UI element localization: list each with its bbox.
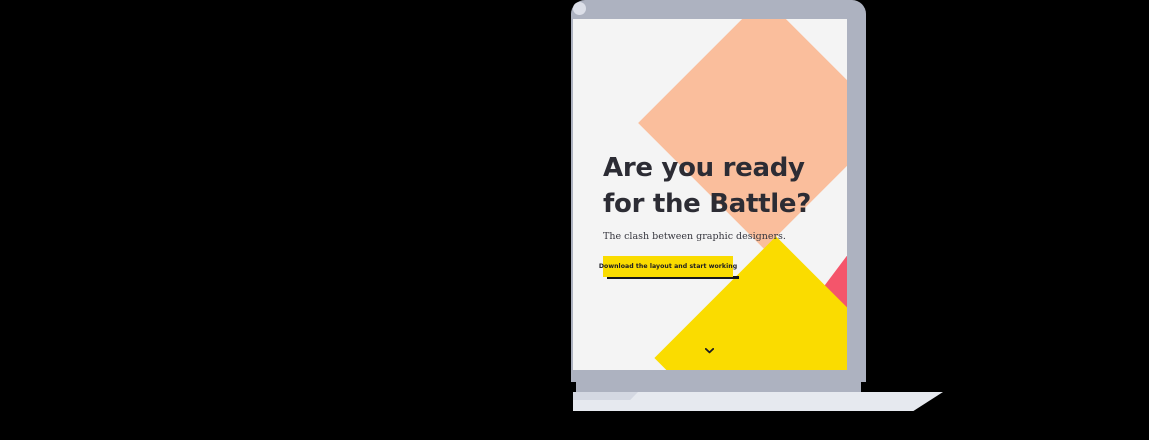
laptop-screen: Are you ready for the Battle? The clash … bbox=[573, 19, 847, 370]
laptop-base-notch bbox=[573, 392, 638, 400]
page-title: Are you ready for the Battle? bbox=[603, 150, 847, 222]
scene-canvas: Are you ready for the Battle? The clash … bbox=[0, 0, 1149, 440]
scroll-down-button[interactable] bbox=[699, 341, 719, 361]
page-subtitle: The clash between graphic designers. bbox=[603, 230, 847, 243]
hero-copy-block: Are you ready for the Battle? The clash … bbox=[603, 150, 847, 280]
cta-button-wrapper: Download the layout and start working bbox=[603, 256, 735, 280]
webcam-icon bbox=[573, 2, 586, 15]
chevron-down-icon bbox=[705, 348, 714, 354]
download-layout-button[interactable]: Download the layout and start working bbox=[603, 256, 733, 277]
laptop-base-deck bbox=[576, 382, 861, 392]
webpage-hero-section: Are you ready for the Battle? The clash … bbox=[573, 19, 847, 370]
laptop-mockup: Are you ready for the Battle? The clash … bbox=[0, 0, 1149, 440]
